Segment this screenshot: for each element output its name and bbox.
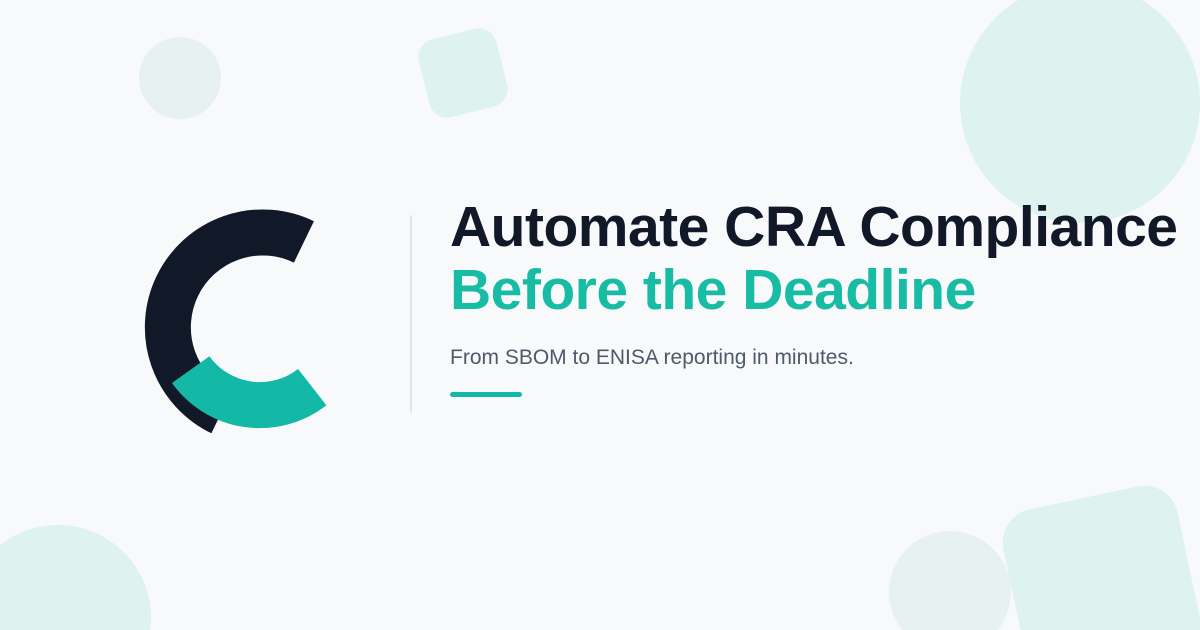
- promo-banner: Automate CRA Compliance Before the Deadl…: [0, 0, 1200, 630]
- page-title: Automate CRA Compliance Before the Deadl…: [450, 196, 1150, 322]
- brand-logo: [126, 194, 358, 442]
- subtitle-text: From SBOM to ENISA reporting in minutes.: [450, 322, 1150, 372]
- banner-content: Automate CRA Compliance Before the Deadl…: [0, 0, 1200, 630]
- logo-accent-arc: [191, 370, 313, 406]
- vertical-divider: [410, 215, 412, 413]
- headline-line-1: Automate CRA Compliance: [450, 196, 1150, 259]
- headline-group: Automate CRA Compliance Before the Deadl…: [450, 196, 1150, 397]
- headline-line-2: Before the Deadline: [450, 259, 1150, 322]
- accent-bar: [450, 392, 522, 397]
- letter-c-logo-icon: [126, 194, 358, 442]
